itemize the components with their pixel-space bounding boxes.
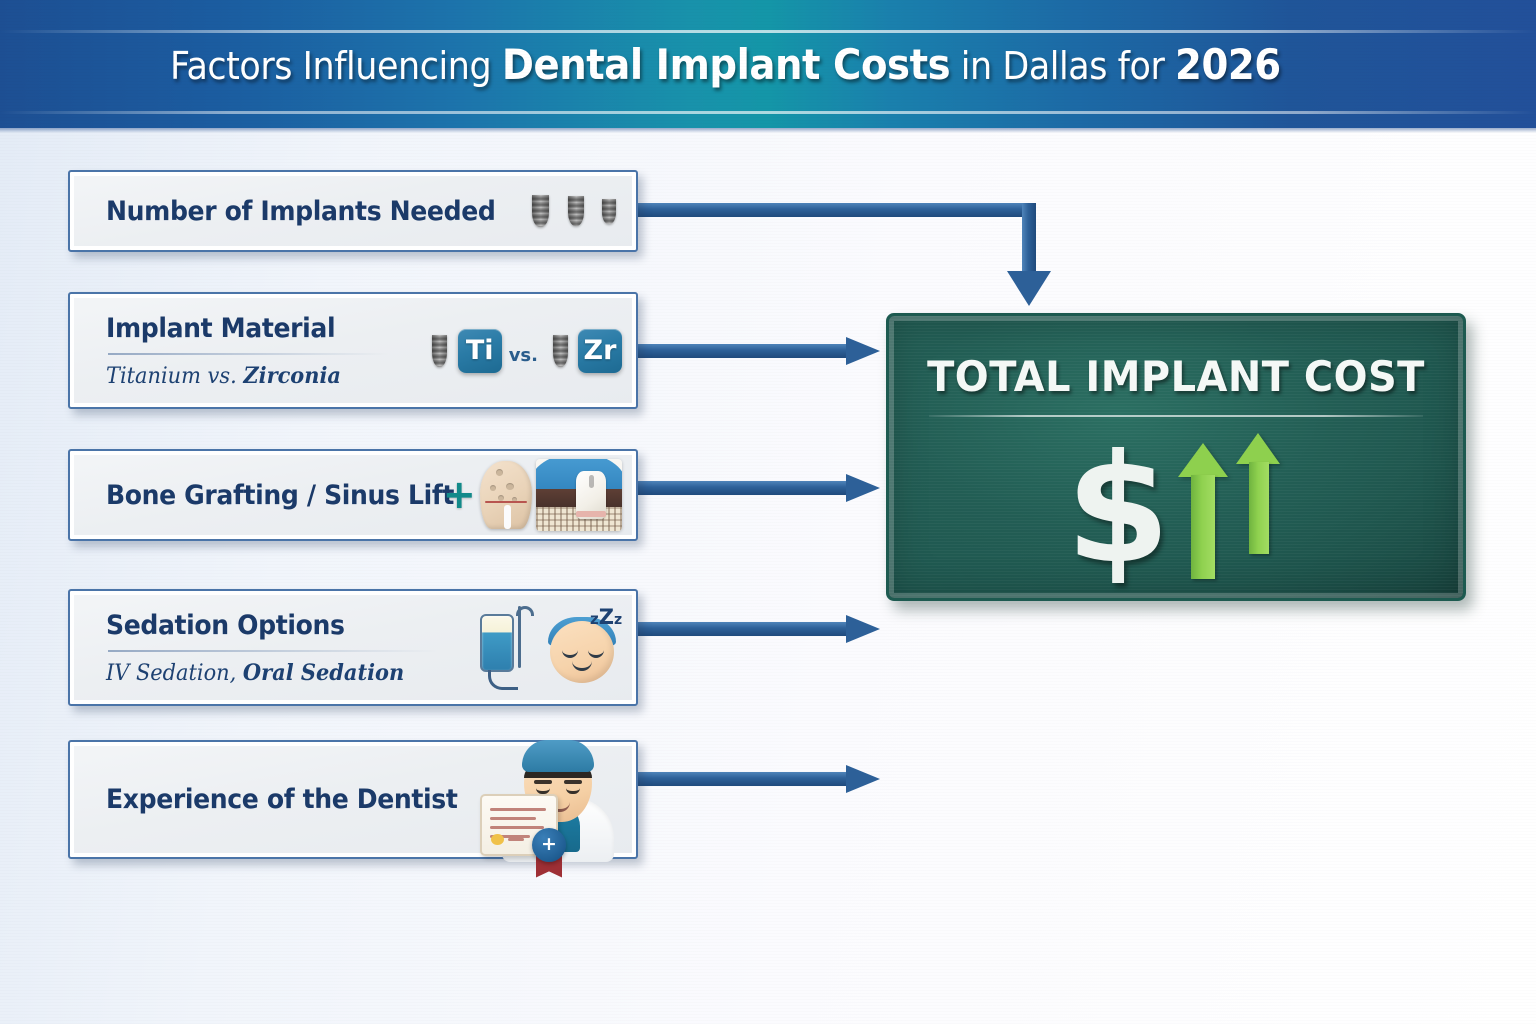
title-segment-location: in Dallas for xyxy=(950,44,1175,88)
connector-4-straight xyxy=(636,615,880,643)
page-title: Factors Influencing Dental Implant Costs… xyxy=(170,40,1281,89)
total-implant-cost-panel[interactable]: TOTAL IMPLANT COST $ xyxy=(886,313,1466,601)
factor-divider xyxy=(108,353,389,355)
factor-text-block: Sedation Options IV Sedation, Oral Sedat… xyxy=(70,610,474,686)
cost-symbols-group: $ xyxy=(889,429,1463,579)
factor-title: Sedation Options xyxy=(106,610,448,641)
dentist-with-certificate-icon: + xyxy=(480,742,636,857)
dollar-sign-icon: $ xyxy=(1066,441,1170,579)
factor-text-block: Bone Grafting / Sinus Lift xyxy=(70,480,442,511)
connector-3-straight xyxy=(636,474,880,502)
factor-box-dentist-experience[interactable]: Experience of the Dentist + xyxy=(68,740,638,859)
sinus-lift-diagram-icon xyxy=(536,459,622,531)
banner-bottom-edge xyxy=(0,128,1536,133)
verified-badge-icon: + xyxy=(532,828,566,862)
factor-title: Experience of the Dentist xyxy=(106,784,454,815)
implant-icon xyxy=(524,195,556,227)
factor-title: Bone Grafting / Sinus Lift xyxy=(106,480,419,511)
factor-text-block: Number of Implants Needed xyxy=(70,196,524,227)
connector-2-straight xyxy=(636,337,880,365)
subtitle-plain: Titanium vs. xyxy=(106,364,243,389)
factor-subtitle: IV Sedation, Oral Sedation xyxy=(106,660,456,686)
factor-box-number-of-implants[interactable]: Number of Implants Needed xyxy=(68,170,638,252)
tooth-and-sinus-lift-icon: + xyxy=(442,451,636,539)
zzz-icon: zZz xyxy=(590,605,622,629)
factor-title: Implant Material xyxy=(106,313,402,344)
iv-drip-icon xyxy=(474,606,548,690)
factor-subtitle: Titanium vs. Zirconia xyxy=(106,363,409,389)
total-cost-title: TOTAL IMPLANT COST xyxy=(903,352,1448,401)
zirconia-implant-icon xyxy=(545,335,575,367)
titanium-implant-icon xyxy=(425,335,455,367)
trend-up-arrow-icon xyxy=(1236,429,1286,579)
subtitle-strong: Zirconia xyxy=(243,363,341,389)
implant-icon xyxy=(561,196,591,226)
dentist-avatar: + xyxy=(480,738,630,862)
sleeping-patient-icon: zZz xyxy=(544,609,622,687)
connector-5-straight xyxy=(636,765,880,793)
decayed-tooth-icon xyxy=(480,461,532,529)
factor-title: Number of Implants Needed xyxy=(106,196,495,227)
title-segment-year: 2026 xyxy=(1175,40,1281,89)
factor-divider xyxy=(108,650,438,652)
title-segment-prefix: Factors Influencing xyxy=(170,44,502,88)
plus-icon: + xyxy=(442,475,476,515)
factor-text-block: Implant Material Titanium vs. Zirconia xyxy=(70,313,425,389)
cost-divider xyxy=(929,415,1423,417)
title-segment-emphasis: Dental Implant Costs xyxy=(502,40,950,89)
connector-1-elbow xyxy=(636,203,1051,306)
iv-drip-and-sleeping-patient-icon: zZz xyxy=(474,591,636,704)
implant-icon xyxy=(596,199,622,224)
implant-material-comparison-icon: Ti vs. Zr xyxy=(425,294,636,407)
subtitle-strong: Oral Sedation xyxy=(243,660,404,686)
title-banner: Factors Influencing Dental Implant Costs… xyxy=(0,0,1536,128)
factor-box-sedation-options[interactable]: Sedation Options IV Sedation, Oral Sedat… xyxy=(68,589,638,706)
subtitle-plain: IV Sedation, xyxy=(106,661,243,686)
vs-label: vs. xyxy=(509,335,538,366)
factor-box-implant-material[interactable]: Implant Material Titanium vs. Zirconia T… xyxy=(68,292,638,409)
factor-text-block: Experience of the Dentist xyxy=(70,784,480,815)
zirconia-badge: Zr xyxy=(578,329,622,373)
factor-box-bone-grafting[interactable]: Bone Grafting / Sinus Lift + xyxy=(68,449,638,541)
three-dental-implants-icon xyxy=(524,172,636,250)
titanium-badge: Ti xyxy=(458,329,502,373)
trend-up-arrow-icon xyxy=(1178,429,1228,579)
